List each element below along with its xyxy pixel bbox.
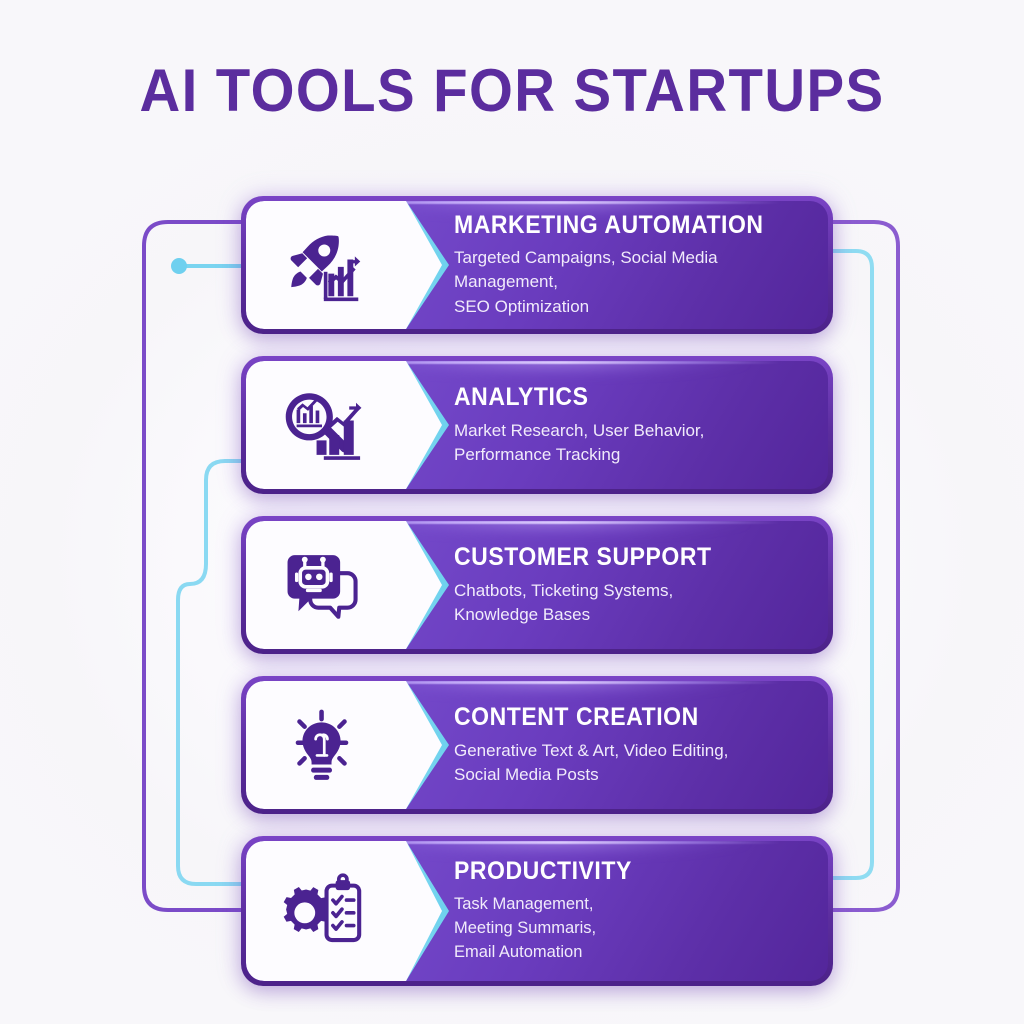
right-purple-bracket [826, 222, 898, 910]
card-surface: MARKETING AUTOMATION Targeted Campaigns,… [246, 201, 828, 329]
icon-panel [246, 841, 406, 981]
chevron-white-point [406, 361, 442, 489]
left-purple-bracket [144, 222, 247, 910]
icon-panel [246, 681, 406, 809]
left-cyan-stepped-line [178, 461, 248, 884]
card-text: ANALYTICS Market Research, User Behavior… [454, 361, 810, 489]
desc-line: Generative Text & Art, Video Editing, [454, 739, 810, 763]
card-text: CONTENT CREATION Generative Text & Art, … [454, 681, 810, 809]
magnifier-bar-chart-icon [276, 386, 368, 464]
card-surface: PRODUCTIVITY Task Management, Meeting Su… [246, 841, 828, 981]
card-surface: CONTENT CREATION Generative Text & Art, … [246, 681, 828, 809]
card-surface: CUSTOMER SUPPORT Chatbots, Ticketing Sys… [246, 521, 828, 649]
card-title: PRODUCTIVITY [454, 857, 782, 886]
lightbulb-idea-icon [276, 706, 368, 784]
right-cyan-bracket [828, 251, 872, 878]
infographic-canvas: AI TOOLS FOR STARTUPS [0, 0, 1024, 1024]
circuit-node-dot [171, 258, 187, 274]
card-customer-support[interactable]: CUSTOMER SUPPORT Chatbots, Ticketing Sys… [241, 516, 833, 654]
card-text: MARKETING AUTOMATION Targeted Campaigns,… [454, 201, 810, 329]
desc-line: Chatbots, Ticketing Systems, [454, 579, 810, 603]
icon-panel [246, 201, 406, 329]
card-title: MARKETING AUTOMATION [454, 211, 782, 240]
desc-line: Targeted Campaigns, Social Media Managem… [454, 246, 810, 294]
chevron-white-point [406, 841, 442, 981]
card-description: Market Research, User Behavior, Performa… [454, 419, 810, 467]
card-marketing-automation[interactable]: MARKETING AUTOMATION Targeted Campaigns,… [241, 196, 833, 334]
gear-clipboard-checklist-icon [276, 872, 368, 950]
chevron-white-point [406, 521, 442, 649]
card-title: CUSTOMER SUPPORT [454, 543, 782, 572]
icon-panel [246, 521, 406, 649]
card-surface: ANALYTICS Market Research, User Behavior… [246, 361, 828, 489]
card-content-creation[interactable]: CONTENT CREATION Generative Text & Art, … [241, 676, 833, 814]
card-list: MARKETING AUTOMATION Targeted Campaigns,… [241, 196, 833, 1008]
desc-line: Task Management, [454, 893, 810, 917]
desc-line: Market Research, User Behavior, [454, 419, 810, 443]
card-description: Targeted Campaigns, Social Media Managem… [454, 246, 810, 318]
chevron-white-point [406, 681, 442, 809]
desc-line: SEO Optimization [454, 295, 810, 319]
desc-line: Knowledge Bases [454, 603, 810, 627]
desc-line: Performance Tracking [454, 443, 810, 467]
card-title: CONTENT CREATION [454, 703, 782, 732]
chatbot-robot-icon [276, 546, 368, 624]
card-description: Generative Text & Art, Video Editing, So… [454, 739, 810, 787]
card-text: PRODUCTIVITY Task Management, Meeting Su… [454, 841, 810, 981]
card-description: Chatbots, Ticketing Systems, Knowledge B… [454, 579, 810, 627]
rocket-growth-chart-icon [276, 226, 368, 304]
page-title: AI TOOLS FOR STARTUPS [31, 56, 994, 125]
card-title: ANALYTICS [454, 383, 782, 412]
icon-panel [246, 361, 406, 489]
desc-line: Email Automation [454, 941, 810, 965]
desc-line: Meeting Summaris, [454, 917, 810, 941]
card-text: CUSTOMER SUPPORT Chatbots, Ticketing Sys… [454, 521, 810, 649]
desc-line: Social Media Posts [454, 763, 810, 787]
chevron-white-point [406, 201, 442, 329]
card-analytics[interactable]: ANALYTICS Market Research, User Behavior… [241, 356, 833, 494]
card-description: Task Management, Meeting Summaris, Email… [454, 893, 810, 965]
card-productivity[interactable]: PRODUCTIVITY Task Management, Meeting Su… [241, 836, 833, 986]
